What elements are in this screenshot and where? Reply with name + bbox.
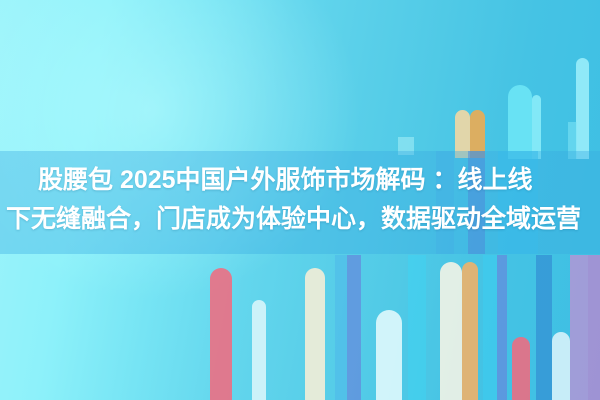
bar-low-white-b bbox=[376, 310, 402, 400]
banner-title-line-2: 下无缝融合，门店成为体验中心，数据驱动全域运营 bbox=[6, 199, 581, 240]
promo-banner: 股腰包 2025中国户外服饰市场解码 ：线上线 下无缝融合，门店成为体验中心，数… bbox=[0, 0, 600, 400]
bar-top-cyan-thin bbox=[532, 95, 541, 159]
bar-low-deepblue bbox=[536, 255, 552, 400]
bar-top-cyan-wide bbox=[508, 85, 532, 159]
banner-title-block: 股腰包 2025中国户外服饰市场解码 ：线上线 下无缝融合，门店成为体验中心，数… bbox=[0, 151, 600, 254]
bar-low-cream-a bbox=[305, 268, 325, 400]
bar-low-indigo-b bbox=[497, 255, 507, 400]
bar-low-blue-a bbox=[335, 255, 347, 400]
bar-low-cream-b bbox=[440, 262, 462, 400]
bar-low-cyan-b bbox=[483, 255, 497, 400]
banner-title-line-1: 股腰包 2025中国户外服饰市场解码 ：线上线 bbox=[38, 160, 533, 201]
light-bloom bbox=[0, 0, 360, 300]
bar-low-pink bbox=[570, 255, 588, 400]
bar-low-cyan-a bbox=[408, 255, 426, 400]
bar-top-tall bbox=[576, 58, 589, 159]
bar-low-coral bbox=[210, 268, 232, 400]
bar-low-white-c bbox=[552, 332, 570, 400]
bar-low-coral-b bbox=[512, 337, 530, 400]
bar-low-indigo bbox=[347, 255, 361, 400]
bar-low-white-a bbox=[252, 300, 266, 400]
bar-low-magenta bbox=[588, 255, 600, 400]
bar-low-orange bbox=[462, 262, 478, 400]
